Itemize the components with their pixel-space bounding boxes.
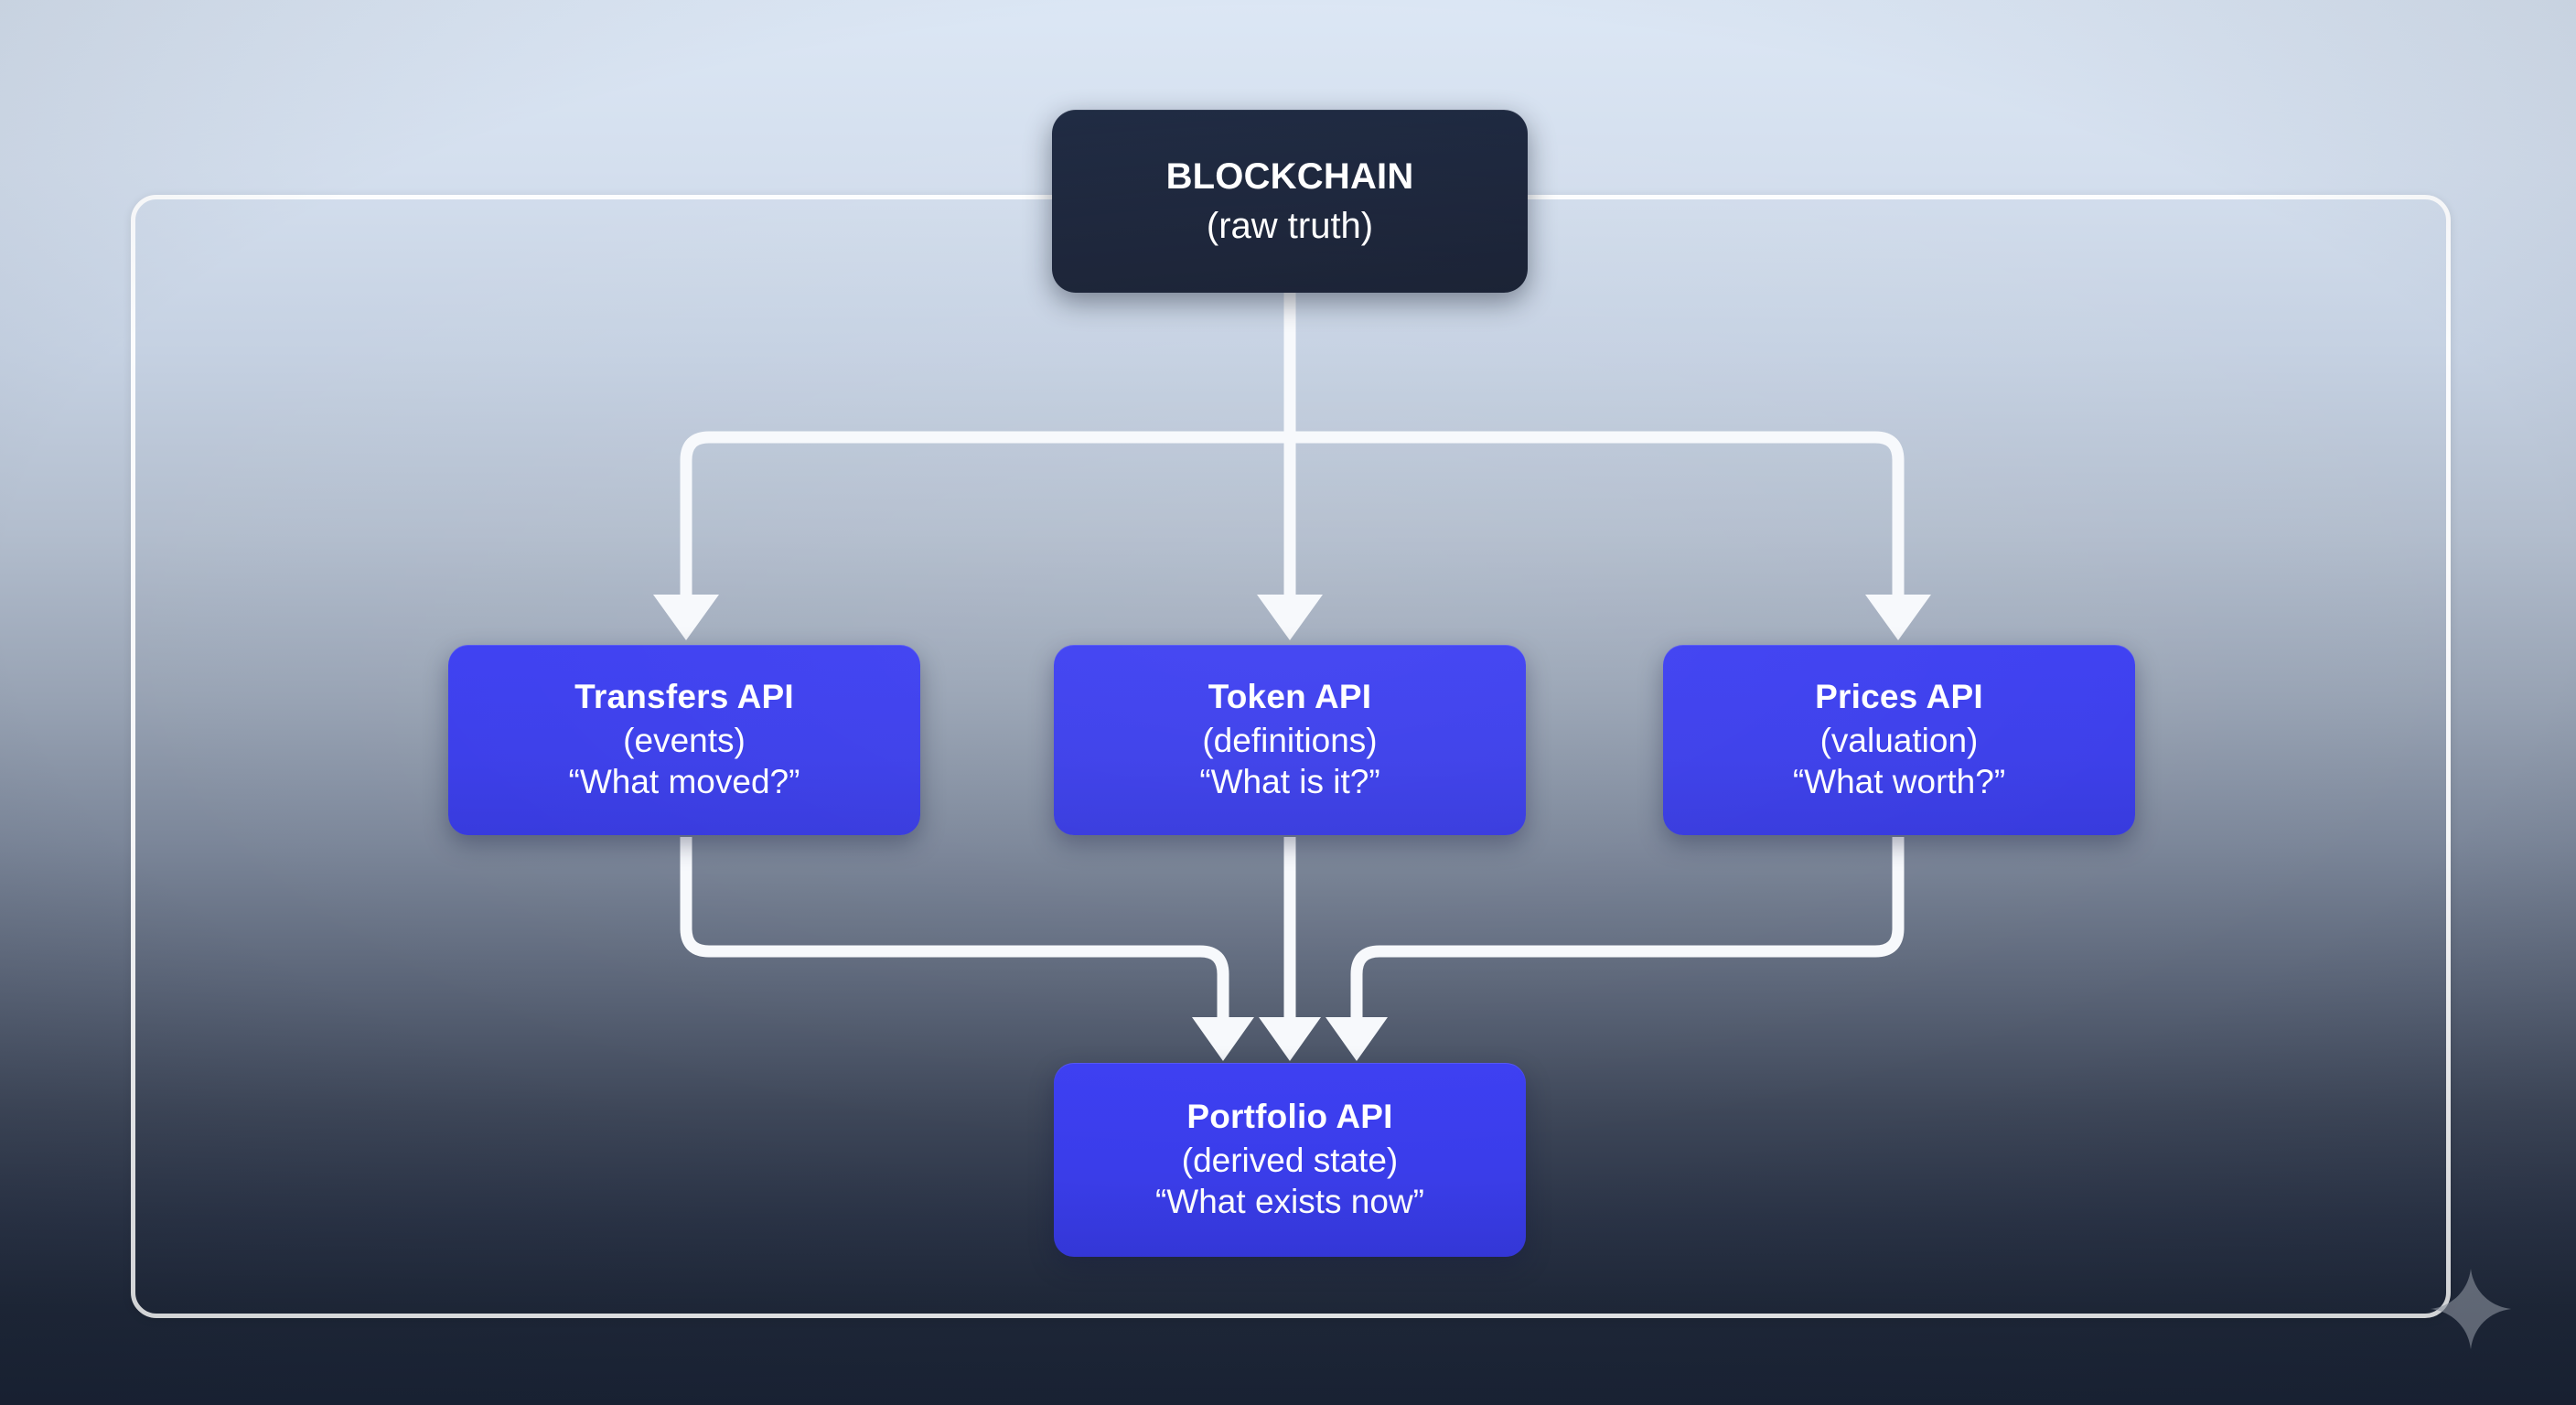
node-transfers-api-title: Transfers API <box>574 677 794 717</box>
node-blockchain-subtitle: (raw truth) <box>1207 204 1373 248</box>
node-portfolio-api-subtitle: (derived state) <box>1182 1141 1399 1181</box>
sparkle-icon <box>2429 1267 2513 1351</box>
node-token-api-title: Token API <box>1208 677 1372 717</box>
node-blockchain[interactable]: BLOCKCHAIN (raw truth) <box>1052 110 1528 293</box>
node-portfolio-api[interactable]: Portfolio API (derived state) “What exis… <box>1054 1063 1526 1257</box>
node-transfers-api-quote: “What moved?” <box>569 762 800 802</box>
node-prices-api-subtitle: (valuation) <box>1820 721 1979 761</box>
node-token-api[interactable]: Token API (definitions) “What is it?” <box>1054 645 1526 835</box>
node-token-api-quote: “What is it?” <box>1199 762 1379 802</box>
node-portfolio-api-quote: “What exists now” <box>1155 1182 1424 1222</box>
node-transfers-api[interactable]: Transfers API (events) “What moved?” <box>448 645 920 835</box>
node-prices-api-quote: “What worth?” <box>1793 762 2005 802</box>
node-transfers-api-subtitle: (events) <box>623 721 746 761</box>
node-token-api-subtitle: (definitions) <box>1202 721 1377 761</box>
node-portfolio-api-title: Portfolio API <box>1186 1097 1392 1137</box>
node-blockchain-title: BLOCKCHAIN <box>1166 155 1414 198</box>
node-prices-api[interactable]: Prices API (valuation) “What worth?” <box>1663 645 2135 835</box>
diagram-canvas: .wire { fill: none; stroke: #f7f9fc; str… <box>0 0 2576 1405</box>
node-prices-api-title: Prices API <box>1815 677 1983 717</box>
